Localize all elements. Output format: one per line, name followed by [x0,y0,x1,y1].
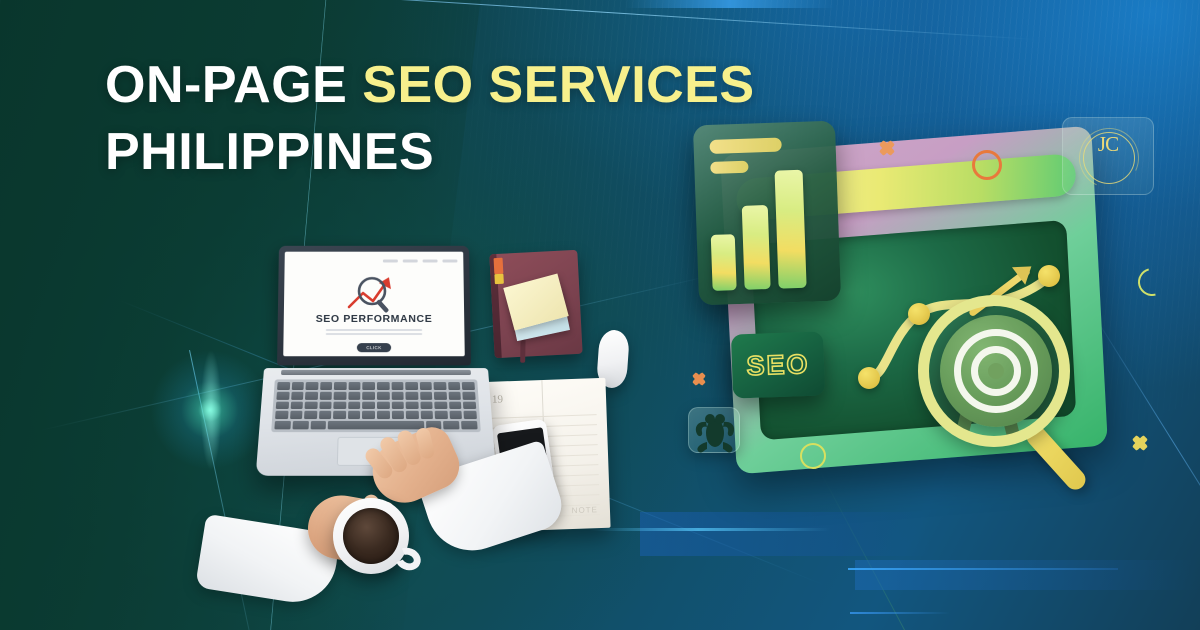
coffee-liquid [343,508,399,564]
background-streak-band [850,612,950,614]
background-streak-band [625,0,835,8]
background-streak-band [848,568,1118,570]
line-graph-dot [858,367,880,389]
line-graph-dot [1038,265,1060,287]
website-nav-placeholder[interactable] [383,260,457,263]
notebook-tab-yellow [494,274,504,284]
laptop-hinge [281,370,471,375]
background-streak-band [855,560,1200,590]
magnifying-glass-icon [918,295,1070,447]
dartboard-target-with-arrow [908,285,1098,475]
laptop-screen-subtitle-placeholder [326,329,423,337]
mug-handle [392,544,424,574]
notebook-page-number: 19 [492,393,503,405]
laptop-lid: SEO PERFORMANCE CLICK [277,246,471,366]
laptop-screen: SEO PERFORMANCE CLICK [283,252,465,357]
laptop-desk-scene: 19 NOTE [190,240,660,630]
background-diagonal-line [0,0,1038,40]
laptop-screen-title: SEO PERFORMANCE [284,313,465,325]
title-part-on-page: ON-PAGE [105,56,347,114]
seo-services-banner: ON-PAGE SEO SERVICES PHILIPPINES 19 NOTE [0,0,1200,630]
seo-3d-illustration: SEO [680,105,1150,525]
notebook-footer-mark: NOTE [572,505,599,515]
notebook-tab-orange [494,258,504,274]
logo-monogram: JC [1063,132,1153,157]
laptop-keyboard[interactable] [271,379,481,432]
notebook-elastic-band [520,337,525,363]
laptop-screen-cta-button[interactable]: CLICK [357,343,391,352]
jc-logo-watermark: JC [1062,117,1154,195]
coffee-mug [333,498,409,574]
